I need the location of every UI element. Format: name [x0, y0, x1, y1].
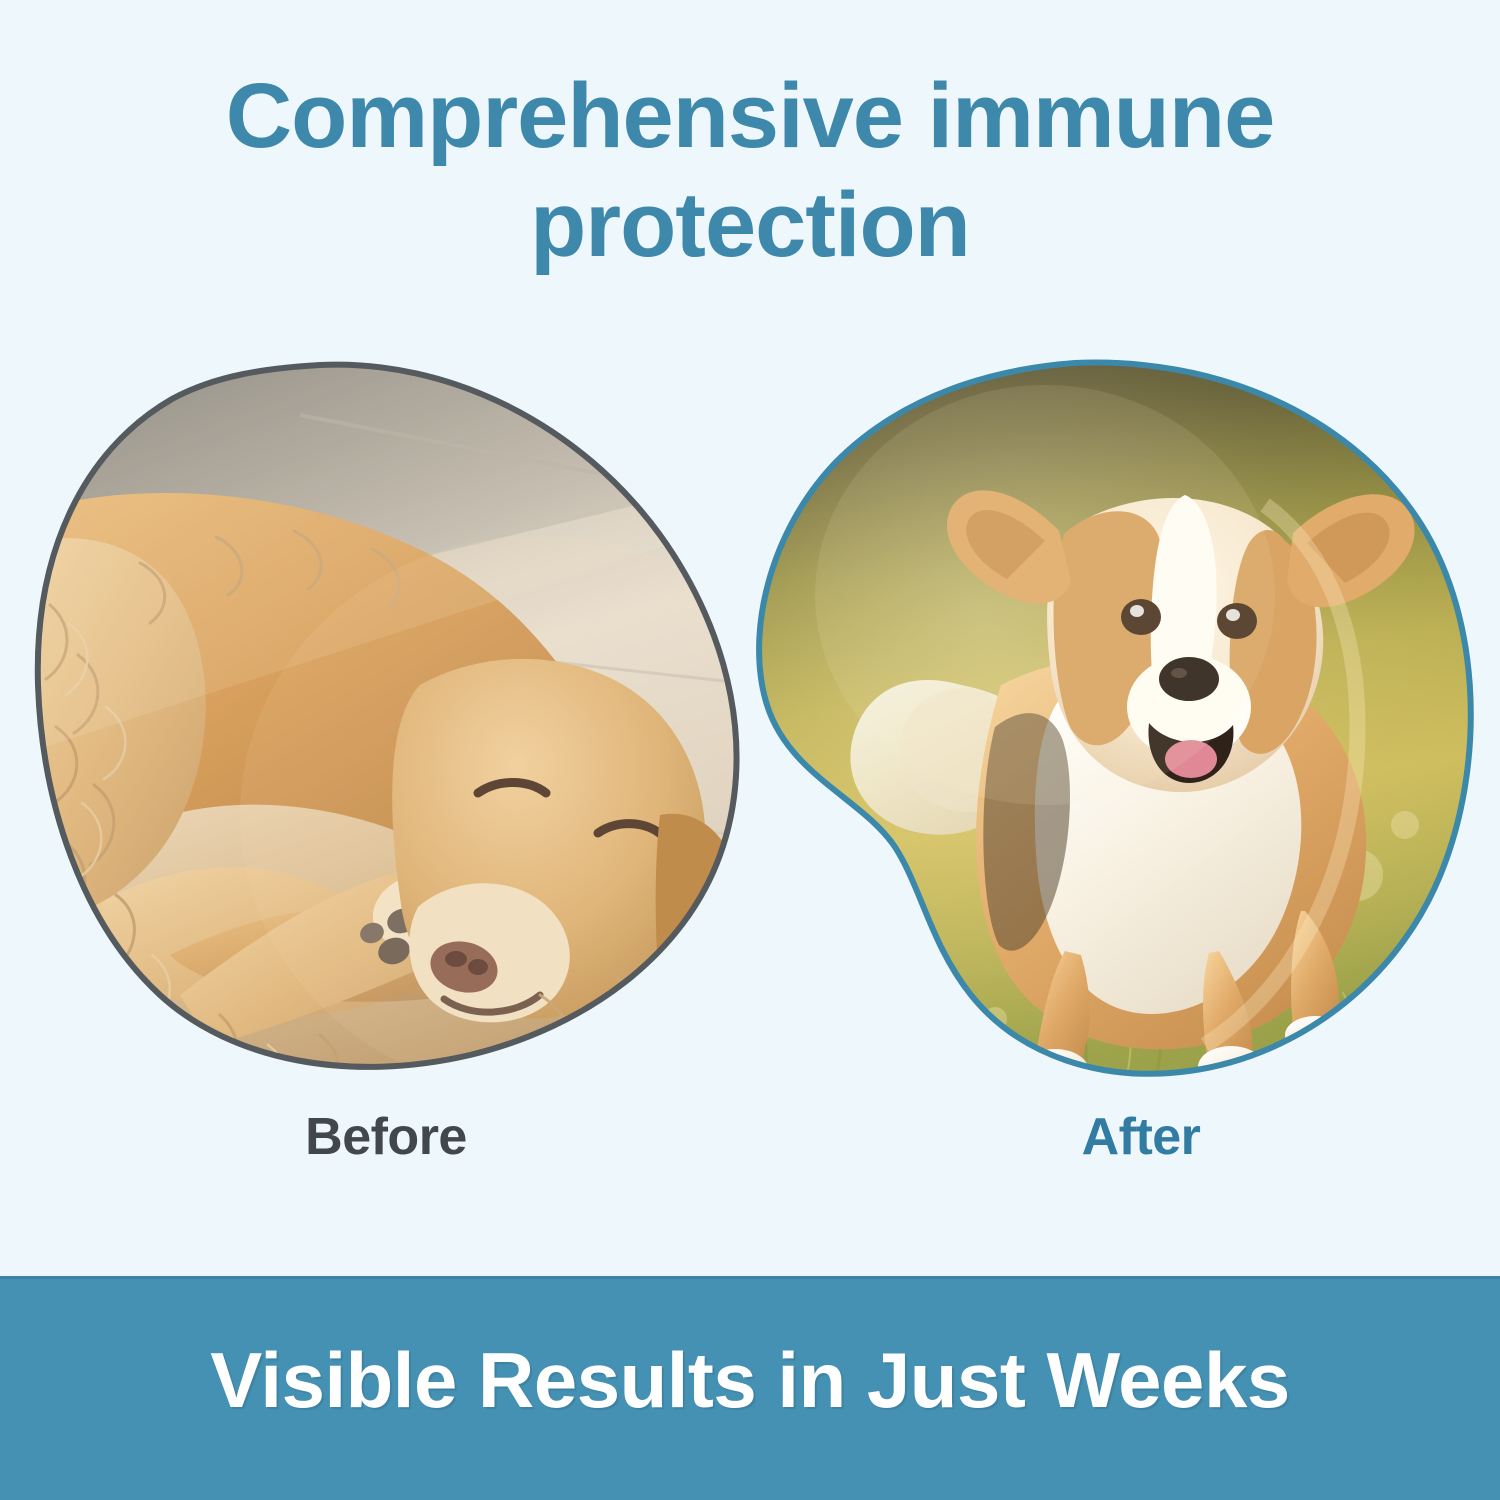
page-title: Comprehensive immune protection — [0, 62, 1500, 279]
before-after-comparison: Before — [0, 355, 1500, 1195]
before-caption: Before — [16, 1107, 756, 1167]
before-panel: Before — [20, 355, 760, 1195]
banner-headline: Visible Results in Just Weeks — [0, 1335, 1500, 1426]
page-title-line-1: Comprehensive immune — [0, 62, 1500, 171]
page-title-line-2: protection — [0, 171, 1500, 280]
after-panel: After — [745, 355, 1485, 1195]
after-image-blob — [745, 355, 1485, 1085]
bottom-banner: Visible Results in Just Weeks — [0, 1276, 1500, 1500]
after-caption: After — [771, 1107, 1500, 1167]
before-image-blob — [20, 355, 760, 1085]
